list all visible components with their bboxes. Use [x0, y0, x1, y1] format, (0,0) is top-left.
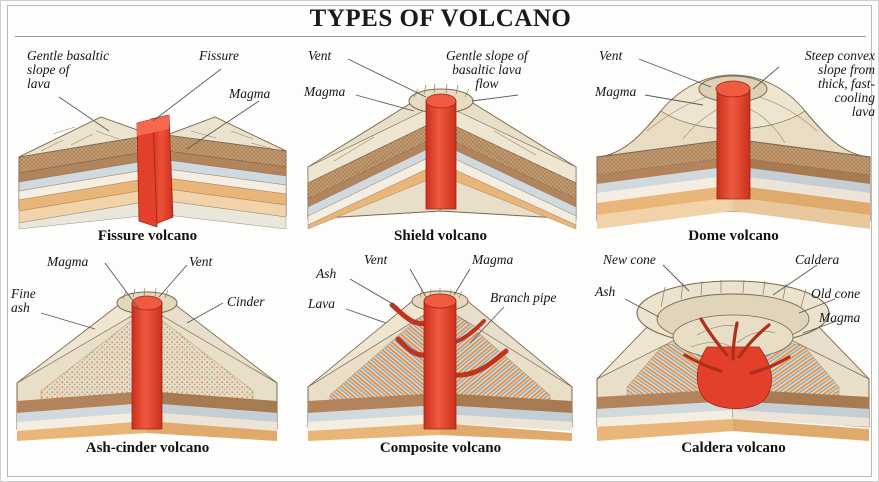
- caption-composite: Composite volcano: [294, 440, 587, 457]
- caption-caldera: Caldera volcano: [587, 440, 879, 457]
- caption-ash-cinder: Ash-cinder volcano: [1, 440, 294, 457]
- page-title: TYPES OF VOLCANO: [1, 5, 879, 33]
- caption-shield: Shield volcano: [294, 228, 587, 245]
- diagram-fissure: Gentle basaltic slope of lava Fissure Ma…: [1, 39, 294, 251]
- diagram-ash-cinder: Magma Vent Fine ash Cinder Ash-cinder vo…: [1, 251, 294, 463]
- ash-cinder-leaders: [1, 251, 294, 441]
- composite-leaders: [294, 251, 587, 441]
- diagram-dome: Vent Magma Steep convex slope from thick…: [587, 39, 879, 251]
- dome-leaders: [587, 39, 879, 229]
- caption-dome: Dome volcano: [587, 228, 879, 245]
- caption-fissure: Fissure volcano: [1, 228, 294, 245]
- fissure-leaders: [1, 39, 294, 229]
- caldera-leaders: [587, 251, 879, 441]
- diagram-composite: Ash Vent Magma Lava Branch pipe Composit…: [294, 251, 587, 463]
- volcano-diagram-page: TYPES OF VOLCANO: [0, 0, 879, 482]
- diagram-shield: Vent Magma Gentle slope of basaltic lava…: [294, 39, 587, 251]
- shield-leaders: [294, 39, 587, 229]
- title-divider: [15, 36, 866, 37]
- diagram-caldera: New cone Caldera Ash Old cone Magma Cald…: [587, 251, 879, 463]
